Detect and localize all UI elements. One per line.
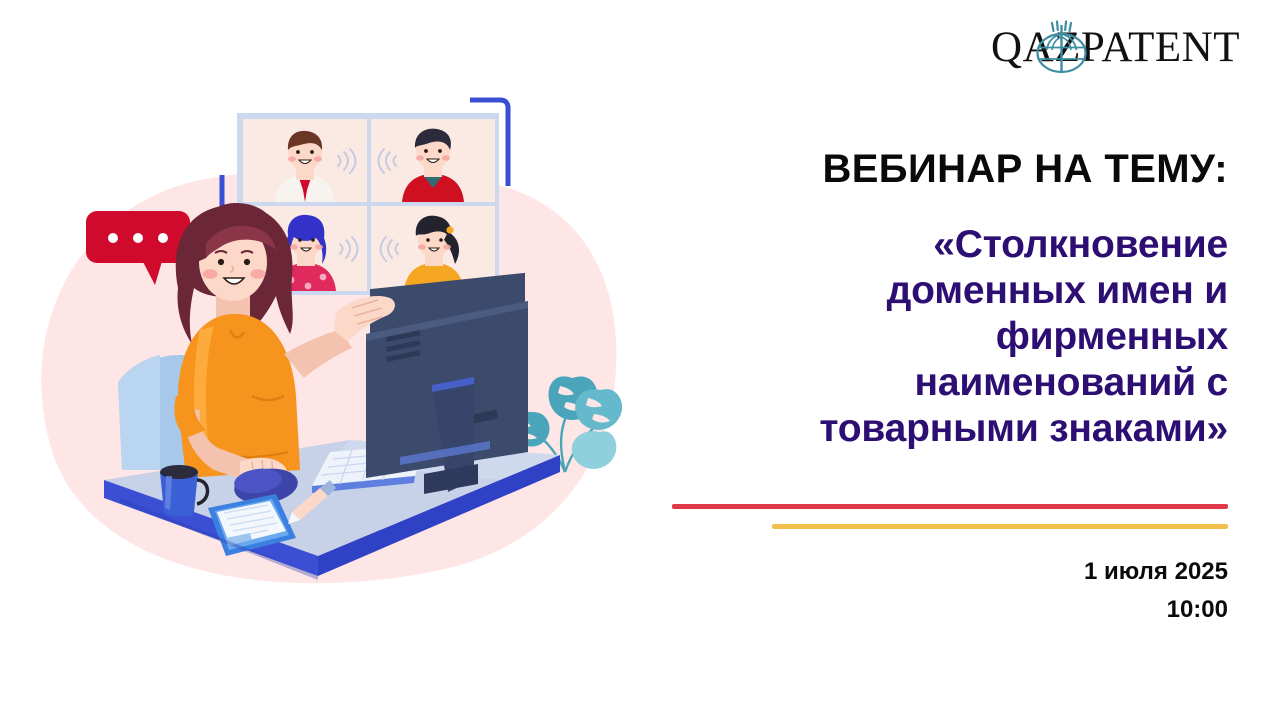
topic-line: фирменных [688, 314, 1228, 360]
webinar-illustration [0, 0, 660, 711]
webinar-topic-title: «Столкновение доменных имен и фирменных … [688, 222, 1228, 452]
topic-line: наименований с [688, 360, 1228, 406]
topic-line: «Столкновение [688, 222, 1228, 268]
topic-line: доменных имен и [688, 268, 1228, 314]
text-panel: ВЕБИНАР НА ТЕМУ: «Столкновение доменных … [650, 0, 1280, 711]
monstera-leaf [572, 431, 617, 469]
webinar-time: 10:00 [688, 597, 1228, 623]
webinar-announcement-slide: QAZPATENT [0, 0, 1280, 711]
webinar-date: 1 июля 2025 [688, 559, 1228, 585]
topic-line: товарными знаками» [688, 406, 1228, 452]
divider-yellow [772, 524, 1228, 529]
webinar-kicker: ВЕБИНАР НА ТЕМУ: [688, 148, 1228, 190]
divider-red [672, 504, 1228, 509]
